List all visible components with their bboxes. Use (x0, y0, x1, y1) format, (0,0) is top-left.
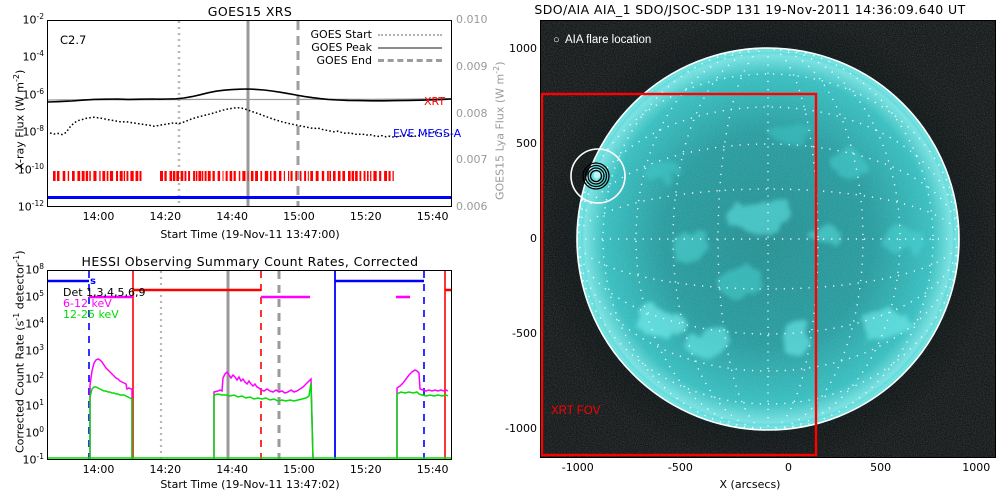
xrt-observation-tick (355, 171, 358, 181)
goes-xtick-4: 15:20 (334, 210, 382, 223)
aia-image-frame: ○ AIA flare location XRT FOV (540, 20, 996, 458)
xrt-observation-tick (110, 171, 113, 181)
xrt-observation-tick (93, 171, 96, 181)
goes-ytick-right-2: 0.008 (456, 107, 488, 120)
aia-ytick-4: -1000 (489, 422, 537, 435)
xrt-observation-tick (68, 171, 69, 181)
xrt-observation-tick (136, 171, 139, 181)
goes-ytick-left-3: 10-8 (0, 124, 44, 139)
xrt-observation-tick (316, 171, 319, 181)
xrt-observation-tick (120, 171, 123, 181)
xrt-observation-tick (360, 171, 362, 181)
goes-xlabel: Start Time (19-Nov-11 13:47:00) (0, 228, 500, 241)
goes-ytick-right-1: 0.009 (456, 60, 488, 73)
xrt-annotation: XRT (424, 95, 445, 108)
xrt-observation-tick (205, 171, 207, 181)
xrt-observation-tick (130, 171, 133, 181)
xrt-observation-tick (251, 171, 254, 181)
legend-swatch-dashed-line (378, 59, 442, 62)
aia-flare-marker-symbol: ○ (553, 34, 560, 46)
xrt-observation-tick (270, 171, 272, 181)
hessi-6-12kev-trace (90, 359, 448, 459)
xrt-observation-tick (173, 171, 175, 181)
hessi-xtick-3: 15:00 (267, 463, 315, 476)
xrt-observation-tick (127, 171, 129, 181)
xrt-observation-tick (239, 171, 241, 181)
aia-xtick-0: -1000 (546, 461, 594, 474)
xrt-observation-tick (89, 171, 91, 181)
xrt-observation-tick (295, 171, 297, 181)
xrt-observation-tick (72, 171, 75, 181)
hessi-ytick-0: 108 (0, 262, 44, 277)
hessi-ytick-7: 10-1 (0, 452, 44, 467)
legend-item-goes-peak: GOES Peak (280, 41, 442, 54)
aia-image-svg: ○ AIA flare location XRT FOV (541, 21, 995, 457)
aia-panel-title: SDO/AIA AIA_1 SDO/JSOC-SDP 131 19-Nov-20… (500, 2, 1000, 17)
hessi-ytick-4: 102 (0, 371, 44, 386)
xrt-observation-tick (116, 171, 118, 181)
goes-ytick-right-0: 0.010 (456, 13, 488, 26)
hessi-ytick-3: 103 (0, 343, 44, 358)
xrt-observation-tick (322, 171, 324, 181)
xrt-observation-tick (53, 171, 56, 181)
hessi-ytick-5: 101 (0, 398, 44, 413)
eve-megs-annotation: EVE MEGS-A (393, 127, 461, 140)
hessi-ytick-6: 100 (0, 425, 44, 440)
xrt-observation-tick (181, 171, 184, 181)
xrt-observation-tick (107, 171, 109, 181)
xrt-observation-tick (140, 171, 142, 181)
xrt-observation-tick (384, 171, 387, 181)
xrt-observation-tick (77, 171, 80, 181)
goes-xtick-2: 14:40 (200, 210, 248, 223)
xrt-observation-tick (291, 171, 293, 181)
goes-flare-class-label: C2.7 (60, 33, 86, 47)
xrt-observation-tick (310, 171, 313, 181)
hessi-xtick-2: 14:40 (200, 463, 248, 476)
hessi-xlabel: Start Time (19-Nov-11 13:47:02) (0, 478, 500, 491)
legend-label-goes-end: GOES End (316, 54, 372, 67)
xrt-observation-tick (86, 171, 88, 181)
xrt-observation-tick (193, 171, 195, 181)
xrt-observation-tick (284, 171, 285, 181)
xrt-observation-tick (342, 171, 345, 181)
aia-xlabel: X (arcsecs) (500, 478, 1000, 491)
xrt-observation-tick (230, 171, 233, 181)
xrt-observation-tick (373, 171, 376, 181)
xrt-observation-tick (170, 171, 173, 181)
xrt-observation-tick (63, 171, 66, 181)
hessi-panel: HESSI Observing Summary Count Rates, Cor… (0, 248, 500, 500)
xrt-observation-tick (102, 171, 105, 181)
xrt-observation-tick (218, 171, 221, 181)
xrt-observation-tick (300, 171, 302, 181)
xrt-observation-tick (367, 171, 369, 181)
legend-label-goes-start: GOES Start (311, 28, 372, 41)
xrt-observation-ticks (53, 171, 394, 181)
xrt-observation-tick (274, 171, 277, 181)
xrt-observation-tick (242, 171, 245, 181)
goes-xrs-panel: GOES15 XRS X-ray Flux (W m-2) GOES15 Lya… (0, 0, 500, 248)
xrt-observation-tick (248, 171, 249, 181)
xrt-observation-tick (308, 171, 309, 181)
xrt-observation-tick (196, 171, 198, 181)
goes-legend: GOES Start GOES Peak GOES End (280, 28, 442, 67)
xrt-observation-tick (223, 171, 224, 181)
xrt-observation-tick (260, 171, 262, 181)
goes-ylabel-left-tail: ) (14, 70, 27, 74)
xrt-observation-tick (198, 171, 201, 181)
aia-ytick-2: 0 (489, 232, 537, 245)
xrt-observation-tick (99, 171, 100, 181)
hessi-ytick-1: 105 (0, 289, 44, 304)
goes-ytick-left-2: 10-6 (0, 87, 44, 102)
xrt-observation-tick (389, 171, 391, 181)
xrt-observation-tick (160, 171, 163, 181)
xrt-observation-tick (188, 171, 190, 181)
xrt-observation-tick (364, 171, 366, 181)
legend-item-goes-start: GOES Start (280, 28, 442, 41)
xrt-observation-tick (226, 171, 228, 181)
aia-ytick-3: -500 (489, 327, 537, 340)
hessi-flag-s-label: s (90, 276, 96, 287)
aia-ytick-0: 1000 (489, 42, 537, 55)
xrt-observation-tick (379, 171, 381, 181)
goes-ytick-left-0: 10-2 (0, 12, 44, 27)
xrt-observation-tick (338, 171, 341, 181)
hessi-xtick-1: 14:20 (133, 463, 181, 476)
legend-label-goes-peak: GOES Peak (311, 41, 372, 54)
goes-ytick-right-4: 0.006 (456, 200, 488, 213)
goes-ylabel-left: X-ray Flux (W m-2) (12, 70, 27, 170)
aia-ytick-1: 500 (489, 137, 537, 150)
aia-xtick-3: 500 (843, 461, 891, 474)
legend-swatch-dotted-line (378, 34, 442, 36)
legend-swatch-solid-line (378, 47, 442, 49)
hessi-ytick-2: 104 (0, 316, 44, 331)
xrt-observation-tick (327, 171, 329, 181)
xrt-observation-tick (329, 171, 331, 181)
goes-ytick-left-5: 10-12 (0, 199, 44, 214)
goes-ytick-right-3: 0.007 (456, 153, 488, 166)
goes-ylabel-left-exp: -2 (12, 74, 21, 82)
hessi-12-25kev-trace (90, 383, 448, 459)
xrt-observation-tick (57, 171, 60, 181)
xrt-observation-tick (202, 171, 204, 181)
hessi-legend-12-25kev: 12-25 keV (63, 308, 119, 321)
figure-root: GOES15 XRS X-ray Flux (W m-2) GOES15 Lya… (0, 0, 1000, 500)
goes-ytick-left-4: 10-10 (0, 162, 44, 177)
xrt-observation-tick (176, 171, 179, 181)
xrt-observation-tick (393, 171, 394, 181)
xrt-observation-tick (124, 171, 125, 181)
xrt-observation-tick (279, 171, 281, 181)
xrt-observation-tick (255, 171, 258, 181)
goes-xtick-1: 14:20 (133, 210, 181, 223)
xrt-fov-label: XRT FOV (551, 405, 601, 417)
hessi-ylabel-tail2: ) (14, 250, 27, 254)
aia-xtick-4: 1000 (942, 461, 990, 474)
aia-xtick-2: 0 (744, 461, 792, 474)
aia-panel: SDO/AIA AIA_1 SDO/JSOC-SDP 131 19-Nov-20… (500, 0, 1000, 500)
goes-xtick-3: 15:00 (267, 210, 315, 223)
hessi-xtick-0: 14:00 (66, 463, 114, 476)
aia-flare-location-legend-label: AIA flare location (565, 34, 651, 46)
goes-short-channel-trace (50, 108, 450, 137)
xrt-observation-tick (304, 171, 306, 181)
xrt-observation-tick (185, 171, 187, 181)
hessi-xtick-5: 15:40 (400, 463, 448, 476)
goes-xtick-0: 14:00 (66, 210, 114, 223)
goes-ytick-left-1: 10-4 (0, 49, 44, 64)
xrt-observation-tick (265, 171, 268, 181)
xrt-observation-tick (348, 171, 351, 181)
xrt-observation-tick (288, 171, 289, 181)
hessi-xtick-4: 15:20 (334, 463, 382, 476)
xrt-observation-tick (234, 171, 236, 181)
xrt-observation-tick (208, 171, 211, 181)
xrt-observation-tick (164, 171, 166, 181)
xrt-observation-tick (370, 171, 371, 181)
aia-xtick-1: -500 (645, 461, 693, 474)
xrt-observation-tick (82, 171, 85, 181)
legend-item-goes-end: GOES End (280, 54, 442, 67)
xrt-observation-tick (352, 171, 354, 181)
hessi-panel-title: HESSI Observing Summary Count Rates, Cor… (0, 254, 500, 269)
xrt-observation-tick (213, 171, 215, 181)
goes-panel-title: GOES15 XRS (0, 4, 500, 19)
xrt-observation-tick (333, 171, 336, 181)
goes-xtick-5: 15:40 (400, 210, 448, 223)
